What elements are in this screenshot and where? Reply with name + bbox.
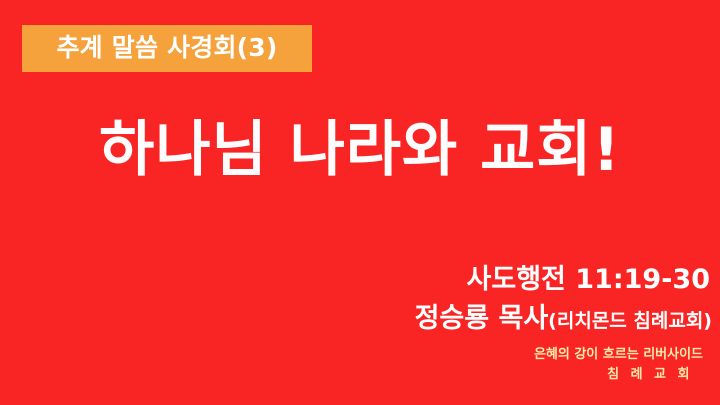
series-banner-label: 추계 말씀 사경회(3): [56, 35, 277, 60]
church-motto-line-1: 은혜의 강이 흐르는 리버사이드: [292, 345, 703, 365]
speaker-church: (리치몬드 침례교회): [548, 310, 712, 332]
speaker-line: 정승룡 목사(리치몬드 침례교회): [292, 301, 712, 337]
speaker-name: 정승룡 목사: [415, 303, 549, 334]
church-motto-line-2: 침 례 교 회: [292, 365, 703, 385]
series-banner: 추계 말씀 사경회(3): [22, 25, 312, 72]
scripture-reference: 사도행전 11:19-30: [292, 262, 712, 297]
sermon-info-block: 사도행전 11:19-30 정승룡 목사(리치몬드 침례교회) 은혜의 강이 흐…: [292, 262, 712, 385]
church-motto: 은혜의 강이 흐르는 리버사이드 침 례 교 회: [292, 345, 712, 385]
main-title: 하나님 나라와 교회!: [0, 116, 720, 185]
sermon-title-slide: 추계 말씀 사경회(3) 하나님 나라와 교회! 사도행전 11:19-30 정…: [0, 0, 720, 405]
